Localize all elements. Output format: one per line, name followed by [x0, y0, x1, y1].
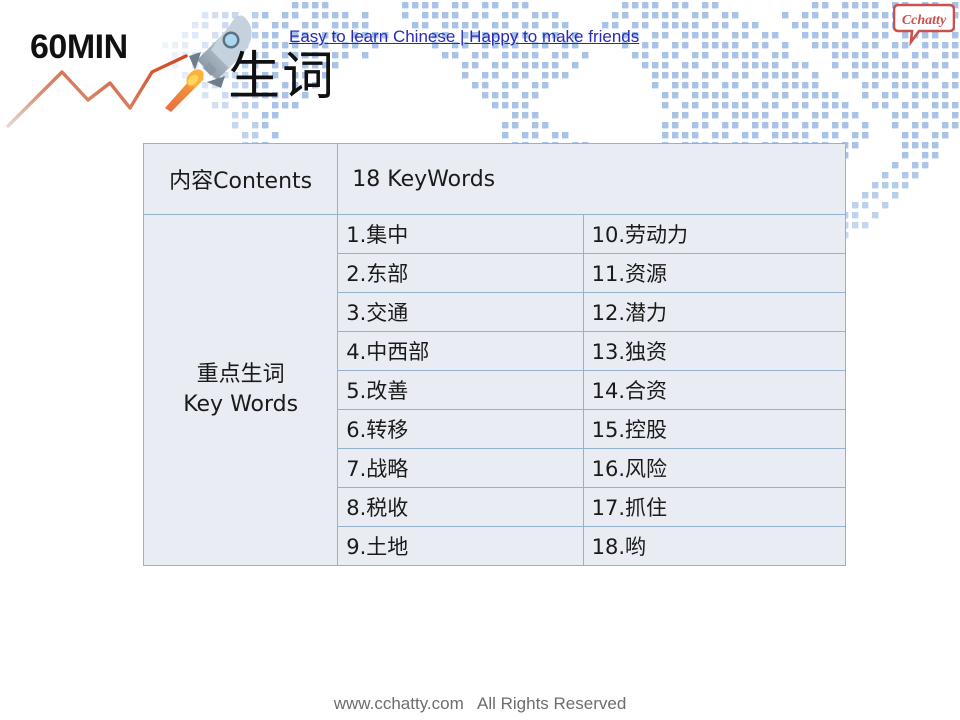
duration-badge: 60MIN — [30, 28, 128, 67]
word-cell: 18.哟 — [583, 527, 845, 566]
header-cell-keywords: 18 KeyWords — [338, 144, 846, 215]
word-cell: 1.集中 — [338, 215, 583, 254]
word-cell: 12.潜力 — [583, 293, 845, 332]
row-label-cn: 重点生词 — [144, 360, 337, 390]
logo-text: Cchatty — [902, 13, 947, 28]
table-row: 重点生词 Key Words 1.集中 10.劳动力 — [144, 215, 846, 254]
row-label-en: Key Words — [144, 390, 337, 420]
word-cell: 15.控股 — [583, 410, 845, 449]
word-cell: 11.资源 — [583, 254, 845, 293]
slide-header: 60MIN 生词 Easy to learn Chinese | Happy t… — [0, 0, 960, 130]
word-cell: 13.独资 — [583, 332, 845, 371]
word-cell: 14.合资 — [583, 371, 845, 410]
word-cell: 6.转移 — [338, 410, 583, 449]
tagline-link[interactable]: Easy to learn Chinese | Happy to make fr… — [289, 27, 639, 47]
cchatty-logo[interactable]: Cchatty — [893, 2, 955, 46]
word-cell: 8.税收 — [338, 488, 583, 527]
header-cell-contents: 内容Contents — [144, 144, 338, 215]
word-cell: 7.战略 — [338, 449, 583, 488]
table-header-row: 内容Contents 18 KeyWords — [144, 144, 846, 215]
word-cell: 3.交通 — [338, 293, 583, 332]
word-cell: 9.土地 — [338, 527, 583, 566]
word-cell: 17.抓住 — [583, 488, 845, 527]
row-label-key-words: 重点生词 Key Words — [144, 215, 338, 566]
word-cell: 10.劳动力 — [583, 215, 845, 254]
word-cell: 16.风险 — [583, 449, 845, 488]
word-cell: 2.东部 — [338, 254, 583, 293]
page-title: 生词 — [228, 48, 336, 106]
footer-copyright: www.cchatty.com All Rights Reserved — [0, 694, 960, 714]
word-cell: 4.中西部 — [338, 332, 583, 371]
keywords-table: 内容Contents 18 KeyWords 重点生词 Key Words 1.… — [143, 143, 846, 566]
word-cell: 5.改善 — [338, 371, 583, 410]
